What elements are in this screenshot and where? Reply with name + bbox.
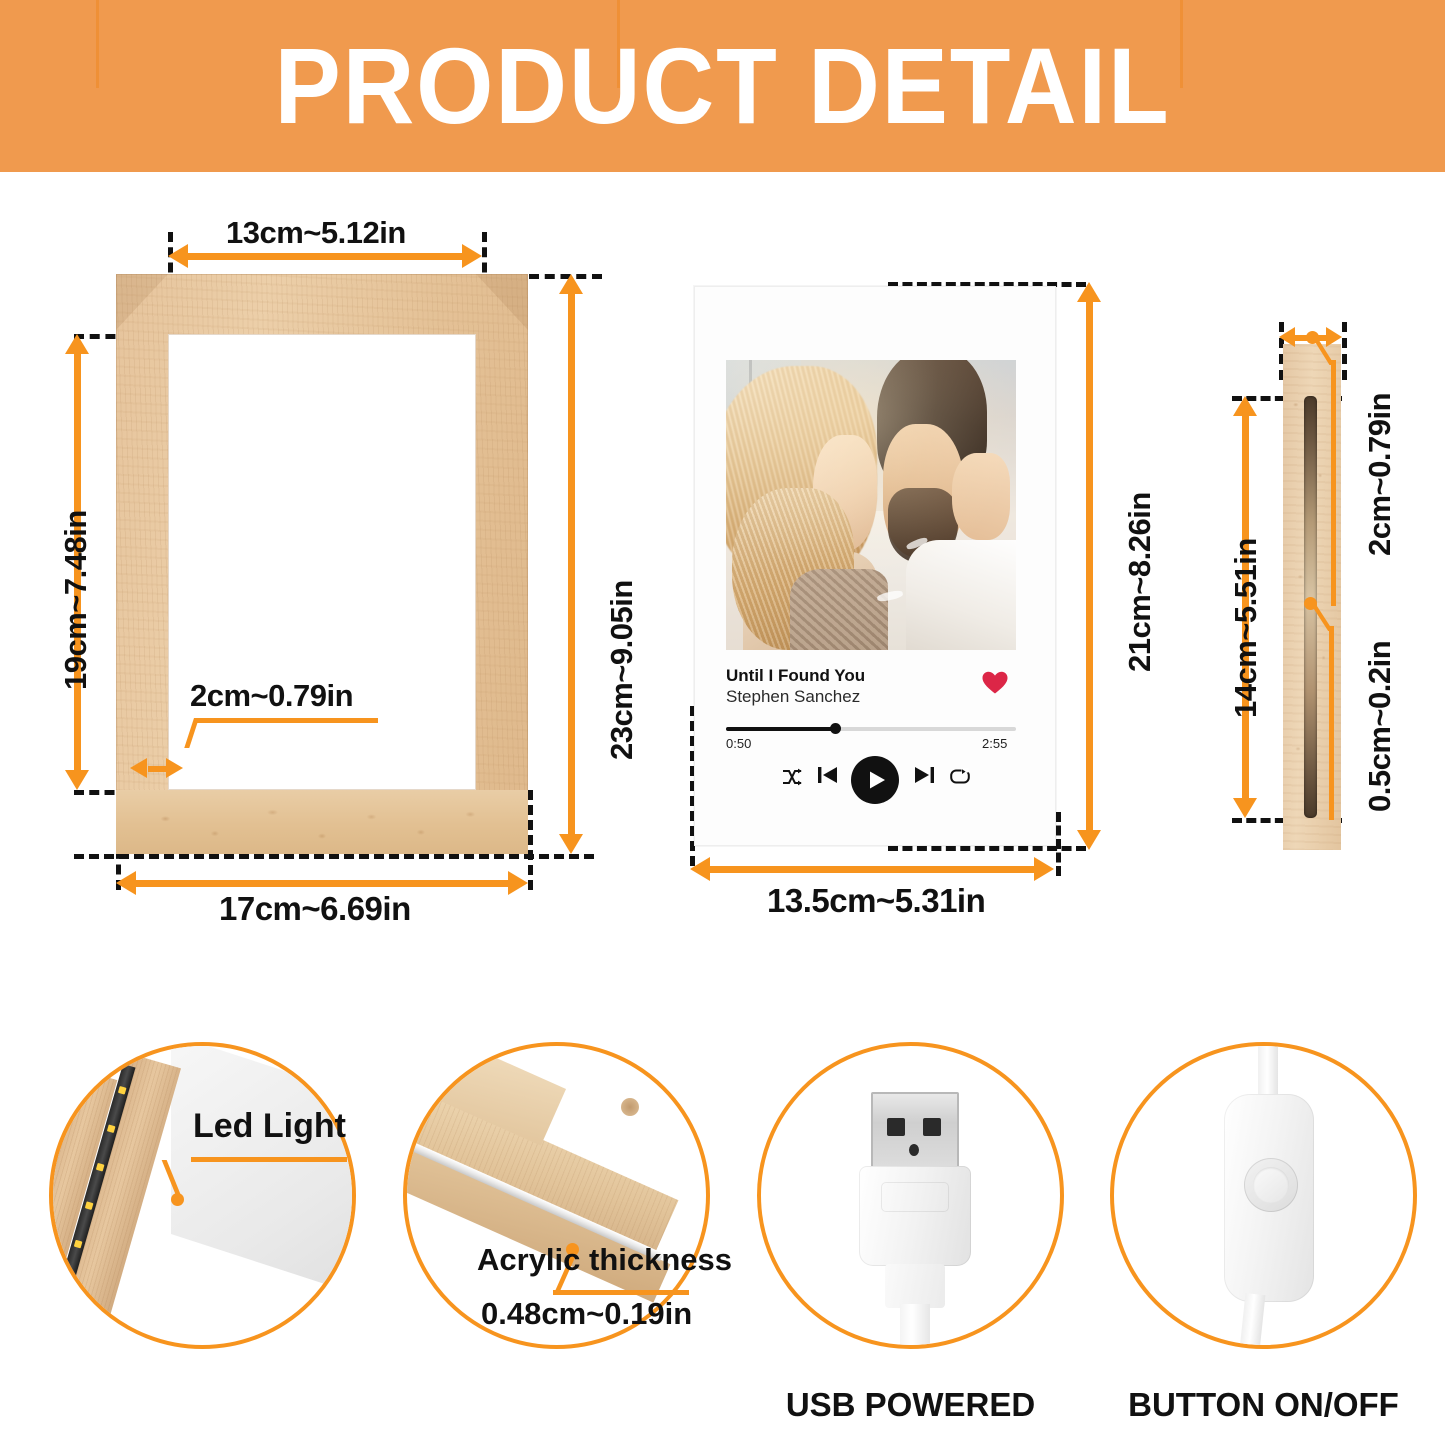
acrylic-thickness-value: 0.48cm~0.19in (481, 1296, 692, 1332)
callout-line-horizontal (191, 1157, 347, 1162)
arrowhead-left (116, 871, 136, 895)
feature-circle-button-on-off (1110, 1042, 1417, 1349)
usb-powered-caption: USB POWERED (757, 1386, 1064, 1424)
shuffle-icon[interactable] (782, 768, 802, 791)
usb-contact-hole (887, 1118, 905, 1136)
feature-circle-led-light (49, 1042, 356, 1349)
arrowhead-top (1077, 282, 1101, 302)
usb-contact-hole (909, 1144, 919, 1156)
dim-arrow-outer-height (568, 294, 575, 834)
dim-arrow-outer-width (136, 880, 508, 887)
arrowhead-left (168, 244, 188, 268)
miter-joint-tr (476, 274, 528, 330)
callout-line-horizontal (553, 1290, 689, 1295)
usb-contact-hole (923, 1118, 941, 1136)
photo-warm-light (726, 360, 1016, 650)
arrowhead-right (166, 758, 183, 778)
arrowhead-bottom (559, 834, 583, 854)
dim-side-depth-label: 2cm~0.79in (1362, 393, 1398, 556)
dim-arrow-border (148, 766, 166, 772)
dim-slot-width-label: 0.5cm~0.2in (1362, 641, 1398, 812)
time-total: 2:55 (982, 736, 1007, 751)
time-elapsed: 0:50 (726, 736, 751, 751)
arrowhead-bottom (65, 770, 89, 790)
arrowhead-bottom (1077, 830, 1101, 850)
callout-line-vertical (1329, 626, 1334, 820)
song-cover-photo (726, 360, 1016, 650)
arrowhead-top (65, 334, 89, 354)
arrowhead-right (462, 244, 482, 268)
arrowhead-top (1233, 396, 1257, 416)
dim-arrow-inner-width (188, 253, 462, 260)
acrylic-thickness-label: Acrylic thickness (477, 1242, 732, 1278)
usb-strain-relief (885, 1264, 945, 1308)
usb-connector-metal (871, 1092, 959, 1168)
switch-cable-bottom (1239, 1293, 1266, 1349)
dim-inner-width-label: 13cm~5.12in (226, 215, 406, 251)
ext-line-outer-bottom (74, 854, 594, 859)
previous-track-icon[interactable] (817, 764, 839, 791)
progress-knob[interactable] (830, 723, 841, 734)
power-button-icon[interactable] (1253, 1167, 1289, 1203)
ext-line-panel-right (1056, 812, 1061, 876)
progress-fill (726, 727, 836, 731)
arrowhead-left (690, 857, 710, 881)
button-on-off-caption: BUTTON ON/OFF (1110, 1386, 1417, 1424)
arrowhead-top (559, 274, 583, 294)
dim-panel-width-label: 13.5cm~5.31in (767, 882, 985, 920)
arrowhead-bottom (1233, 798, 1257, 818)
usb-plug-emboss (881, 1182, 949, 1212)
dim-outer-height-label: 23cm~9.05in (604, 580, 640, 760)
dim-outer-width-label: 17cm~6.69in (219, 890, 411, 928)
dim-panel-height-label: 21cm~8.26in (1122, 492, 1158, 672)
frame-bottom-face (116, 790, 528, 854)
acrylic-panel: Until I Found You Stephen Sanchez 0:50 2… (694, 286, 1056, 846)
dim-slot-height-label: 14cm~5.51in (1228, 538, 1264, 718)
led-background-wall (171, 1042, 356, 1312)
ext-line-side-right (1342, 322, 1347, 380)
dim-inner-height-label: 19cm~7.48in (58, 510, 94, 690)
dim-arrow-panel-height (1086, 302, 1093, 830)
page-title: PRODUCT DETAIL (58, 26, 1387, 146)
switch-cable-top (1258, 1042, 1278, 1102)
acrylic-frame-knot (621, 1098, 639, 1116)
ext-line-outer-right (528, 790, 533, 890)
led-light-label: Led Light (193, 1107, 346, 1146)
next-track-icon[interactable] (913, 764, 935, 791)
arrowhead-left (1279, 327, 1295, 347)
dim-border-width-label: 2cm~0.79in (190, 678, 353, 714)
song-artist: Stephen Sanchez (726, 687, 860, 707)
arrowhead-left (130, 758, 147, 778)
feature-circle-usb-powered (757, 1042, 1064, 1349)
arrowhead-right (508, 871, 528, 895)
usb-plug-body (859, 1166, 971, 1266)
callout-line-horizontal (197, 718, 378, 723)
heart-icon[interactable] (982, 671, 1008, 700)
miter-joint-tl (116, 274, 168, 330)
song-title: Until I Found You (726, 666, 865, 686)
callout-line-vertical (1331, 360, 1336, 606)
arrowhead-right (1326, 327, 1342, 347)
play-button[interactable] (851, 756, 899, 804)
usb-cable (900, 1304, 930, 1349)
repeat-icon[interactable] (950, 768, 970, 790)
header-banner: PRODUCT DETAIL (0, 0, 1445, 172)
arrowhead-right (1034, 857, 1054, 881)
dim-arrow-panel-width (710, 866, 1034, 873)
